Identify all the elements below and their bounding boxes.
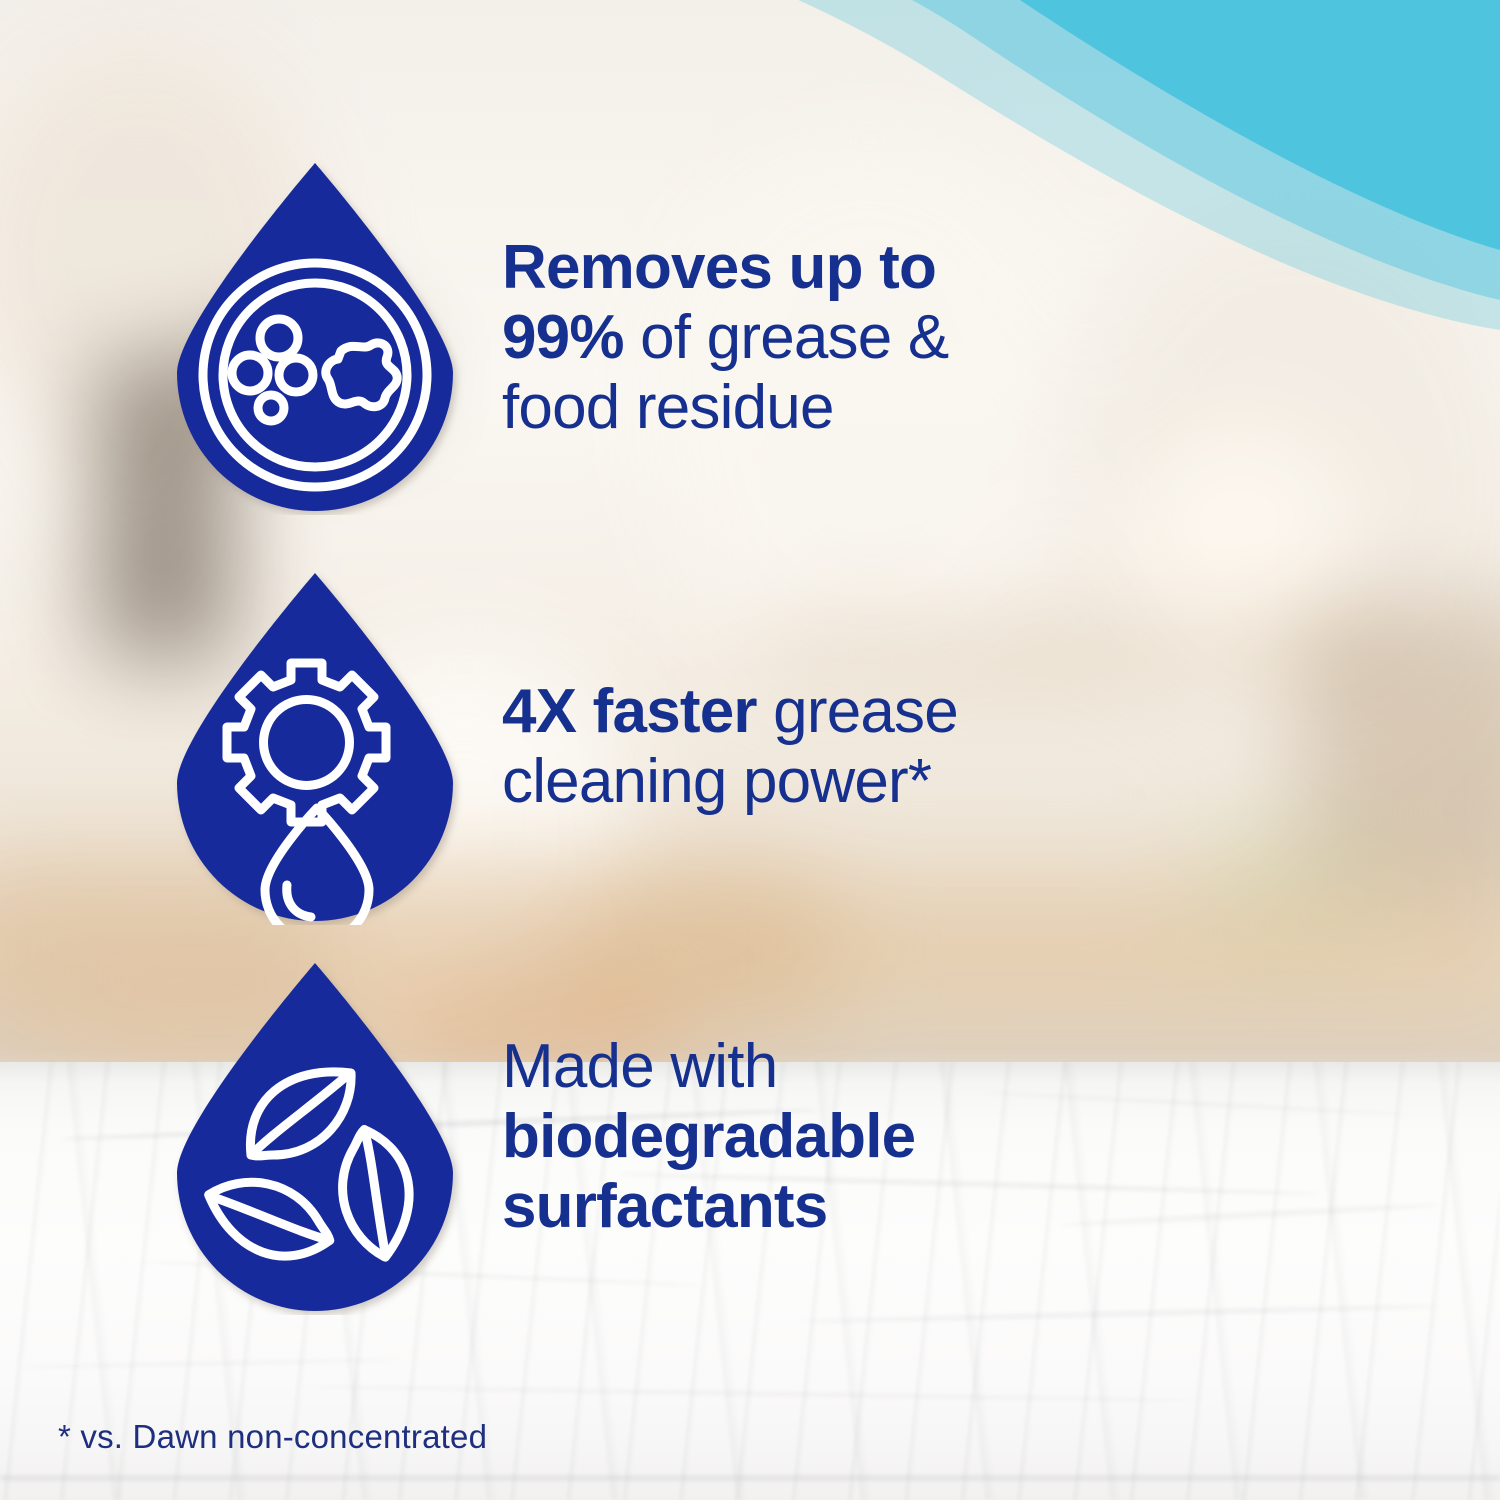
- product-infographic: Removes up to 99% of grease & food resid…: [0, 0, 1500, 1500]
- feature-1-line-1: Removes up to: [502, 233, 948, 303]
- feature-2-line-2-regular: cleaning power*: [502, 747, 931, 816]
- recycling-leaves-icon: [165, 955, 465, 1315]
- feature-3-line-3-bold: surfactants: [502, 1172, 827, 1241]
- feature-text-3: Made with biodegradable surfactants: [502, 1032, 915, 1242]
- feature-1-line-2-regular: of grease &: [624, 303, 949, 372]
- feature-1-line-2: 99% of grease &: [502, 303, 948, 373]
- feature-icon-3: [150, 950, 480, 1320]
- feature-2-line-1: 4X faster grease: [502, 677, 958, 747]
- feature-3-line-1-regular: Made with: [502, 1032, 777, 1101]
- feature-1-line-1-bold: Removes up to: [502, 233, 936, 302]
- feature-icon-2: [150, 560, 480, 930]
- feature-2-line-1-bold: 4X faster: [502, 677, 757, 746]
- feature-2-line-2: cleaning power*: [502, 747, 958, 817]
- feature-3-line-2: biodegradable: [502, 1102, 915, 1172]
- feature-text-2: 4X faster grease cleaning power*: [502, 677, 958, 817]
- feature-row-2: 4X faster grease cleaning power*: [150, 560, 958, 930]
- feature-1-line-3-regular: food residue: [502, 373, 834, 442]
- feature-2-line-1-regular: grease: [757, 677, 958, 746]
- feature-3-line-2-bold: biodegradable: [502, 1102, 915, 1171]
- feature-row-1: Removes up to 99% of grease & food resid…: [150, 150, 948, 520]
- plate-with-grease-spots-icon: [165, 155, 465, 515]
- footnote-disclaimer: * vs. Dawn non-concentrated: [58, 1418, 487, 1456]
- feature-1-line-2-bold: 99%: [502, 303, 624, 372]
- feature-row-3: Made with biodegradable surfactants: [150, 950, 915, 1320]
- feature-list: Removes up to 99% of grease & food resid…: [0, 0, 1500, 1500]
- feature-3-line-3: surfactants: [502, 1172, 915, 1242]
- feature-text-1: Removes up to 99% of grease & food resid…: [502, 233, 948, 443]
- feature-3-line-1: Made with: [502, 1032, 915, 1102]
- feature-icon-1: [150, 150, 480, 520]
- feature-1-line-3: food residue: [502, 373, 948, 443]
- gear-with-droplet-icon: [165, 565, 465, 925]
